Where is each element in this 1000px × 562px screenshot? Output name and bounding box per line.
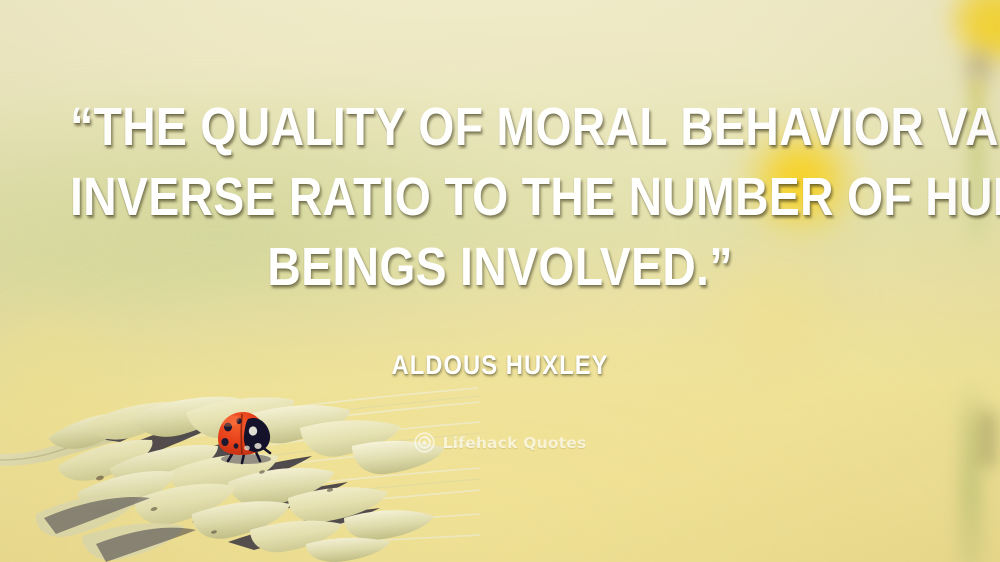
quote-line-2: INVERSE RATIO TO THE NUMBER OF HUMAN	[70, 162, 930, 232]
quote-image-canvas: “THE QUALITY OF MORAL BEHAVIOR VARIES IN…	[0, 0, 1000, 562]
watermark-label: Lifehack Quotes	[443, 434, 587, 452]
blurred-stalk-bottom-right	[960, 380, 982, 562]
quote-text-block: “THE QUALITY OF MORAL BEHAVIOR VARIES IN…	[0, 92, 1000, 302]
watermark: Lifehack Quotes	[0, 432, 1000, 453]
quote-author: ALDOUS HUXLEY	[60, 349, 940, 381]
background-warm-haze	[0, 281, 1000, 562]
quote-line-1: “THE QUALITY OF MORAL BEHAVIOR VARIES IN	[70, 92, 930, 162]
lifehack-circle-logo-icon	[414, 432, 435, 453]
quote-line-3: BEINGS INVOLVED.”	[70, 232, 930, 302]
